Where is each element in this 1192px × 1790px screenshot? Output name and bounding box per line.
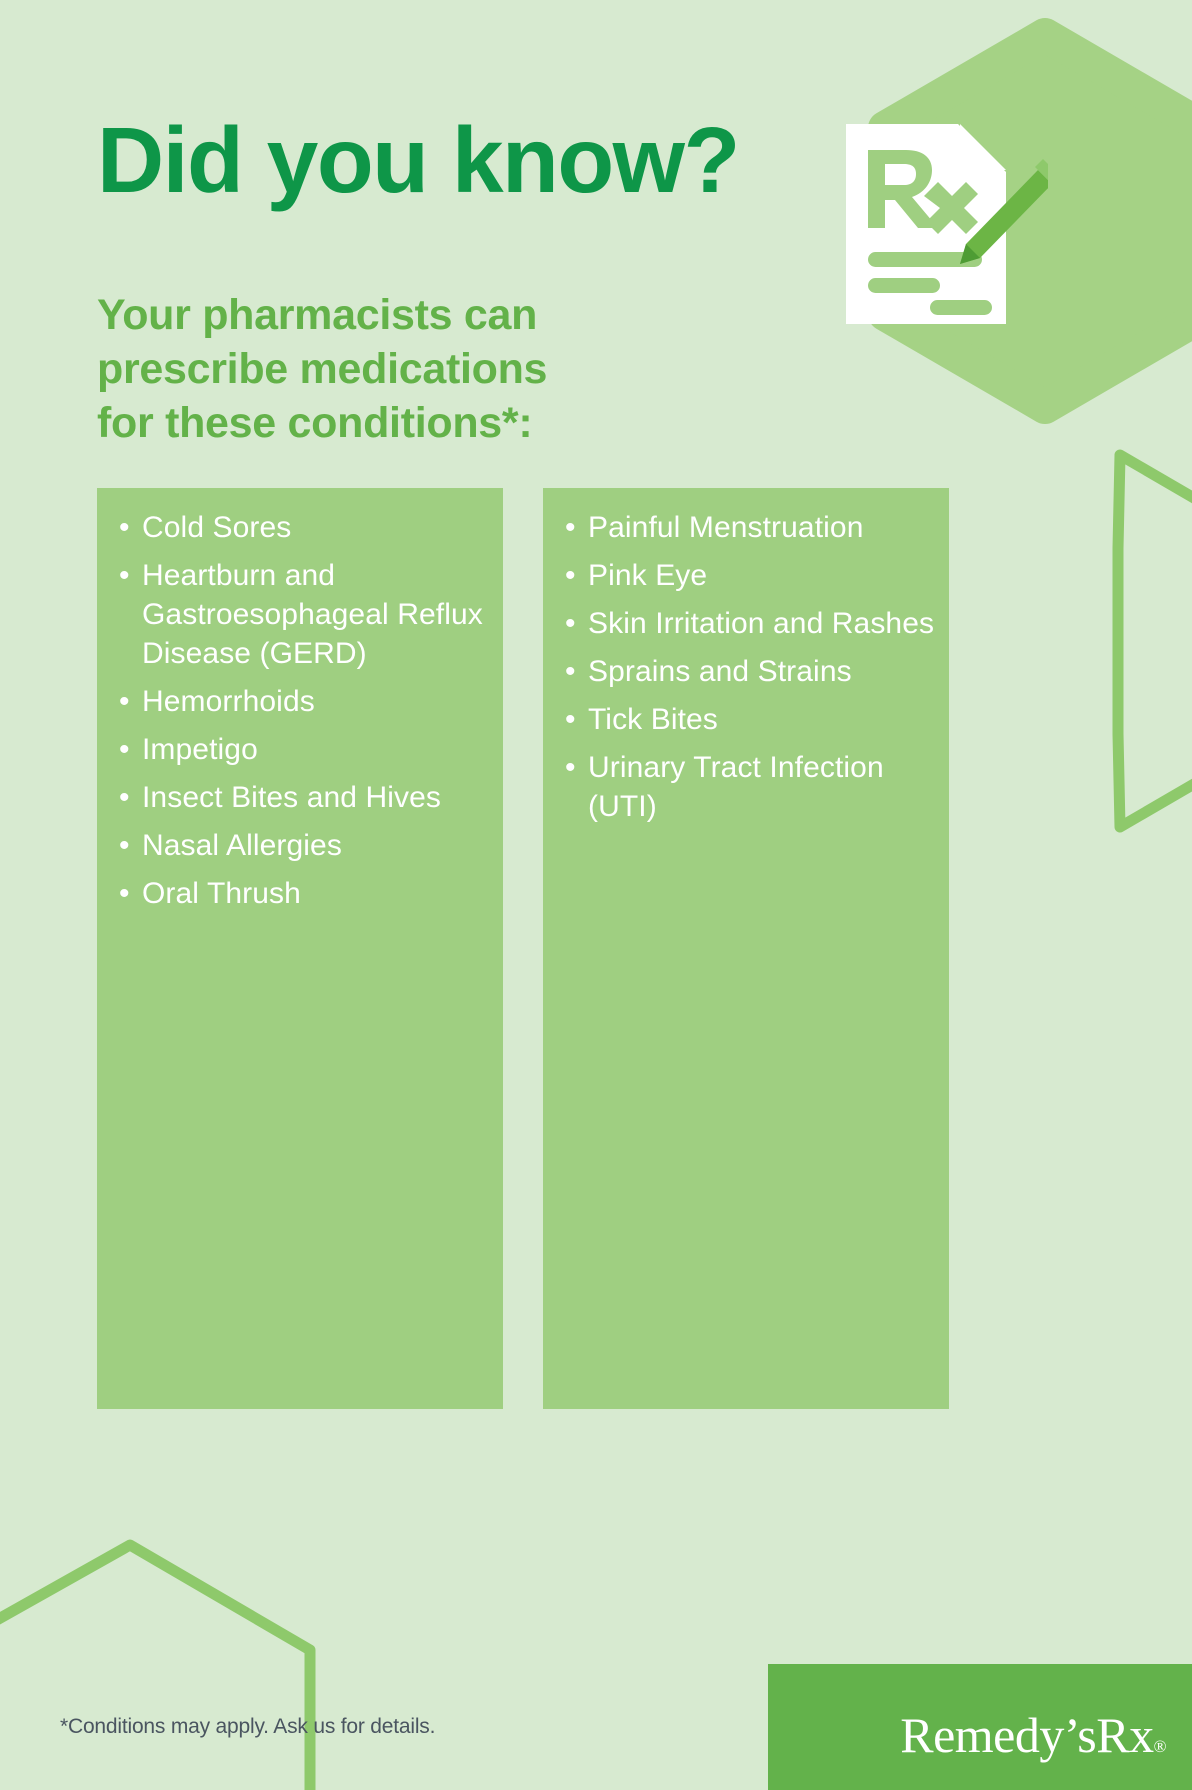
bullet-icon: • bbox=[565, 508, 576, 547]
list-item: •Insect Bites and Hives bbox=[115, 778, 497, 817]
bullet-icon: • bbox=[565, 556, 576, 595]
bullet-icon: • bbox=[119, 826, 130, 865]
brand-logo-text: Remedy’sRx® bbox=[768, 1706, 1166, 1764]
hexagon-outline-right bbox=[1118, 455, 1192, 827]
list-item-label: Hemorrhoids bbox=[142, 685, 315, 718]
document-line-2 bbox=[868, 278, 940, 293]
bullet-icon: • bbox=[119, 778, 130, 817]
poster-canvas: Did you know? Your pharmacists can presc… bbox=[0, 0, 1192, 1790]
list-item-label: Heartburn and Gastroesophageal Reflux Di… bbox=[142, 559, 483, 670]
list-item: •Painful Menstruation bbox=[561, 508, 943, 547]
brand-name: Remedy’sRx bbox=[900, 1707, 1153, 1763]
bullet-icon: • bbox=[119, 682, 130, 721]
bullet-icon: • bbox=[565, 604, 576, 643]
list-item-label: Painful Menstruation bbox=[588, 511, 864, 544]
subtitle-line-3: for these conditions*: bbox=[97, 396, 547, 450]
list-item-label: Pink Eye bbox=[588, 559, 707, 592]
list-item-label: Oral Thrush bbox=[142, 877, 301, 910]
conditions-panel-right: •Painful Menstruation •Pink Eye •Skin Ir… bbox=[543, 488, 949, 1409]
list-item-label: Cold Sores bbox=[142, 511, 291, 544]
list-item-label: Urinary Tract Infection (UTI) bbox=[588, 751, 884, 823]
prescription-document-icon bbox=[838, 118, 1048, 333]
list-item-label: Sprains and Strains bbox=[588, 655, 852, 688]
subtitle-line-1: Your pharmacists can bbox=[97, 288, 547, 342]
list-item-label: Nasal Allergies bbox=[142, 829, 342, 862]
list-item: •Impetigo bbox=[115, 730, 497, 769]
footnote-text: *Conditions may apply. Ask us for detail… bbox=[60, 1715, 435, 1739]
brand-logo: Remedy’sRx® bbox=[768, 1664, 1192, 1790]
list-item: •Heartburn and Gastroesophageal Reflux D… bbox=[115, 556, 497, 673]
list-item-label: Insect Bites and Hives bbox=[142, 781, 441, 814]
page-subtitle: Your pharmacists can prescribe medicatio… bbox=[97, 288, 547, 450]
subtitle-line-2: prescribe medications bbox=[97, 342, 547, 396]
list-item: •Hemorrhoids bbox=[115, 682, 497, 721]
list-item: •Urinary Tract Infection (UTI) bbox=[561, 748, 943, 826]
bullet-icon: • bbox=[119, 874, 130, 913]
list-item-label: Impetigo bbox=[142, 733, 258, 766]
bullet-icon: • bbox=[119, 556, 130, 595]
document-folded-corner bbox=[960, 124, 1006, 170]
conditions-panel-left: •Cold Sores •Heartburn and Gastroesophag… bbox=[97, 488, 503, 1409]
bullet-icon: • bbox=[565, 652, 576, 691]
list-item: •Pink Eye bbox=[561, 556, 943, 595]
bullet-icon: • bbox=[565, 748, 576, 787]
list-item: •Nasal Allergies bbox=[115, 826, 497, 865]
list-item: •Skin Irritation and Rashes bbox=[561, 604, 943, 643]
hexagon-outline-bottom-left bbox=[0, 1545, 310, 1790]
list-item-label: Skin Irritation and Rashes bbox=[588, 607, 934, 640]
bullet-icon: • bbox=[565, 700, 576, 739]
list-item-label: Tick Bites bbox=[588, 703, 718, 736]
list-item: •Tick Bites bbox=[561, 700, 943, 739]
list-item: •Oral Thrush bbox=[115, 874, 497, 913]
bullet-icon: • bbox=[119, 730, 130, 769]
conditions-list-right: •Painful Menstruation •Pink Eye •Skin Ir… bbox=[561, 508, 943, 835]
document-signature-line bbox=[930, 300, 992, 315]
list-item: •Sprains and Strains bbox=[561, 652, 943, 691]
page-title: Did you know? bbox=[97, 111, 739, 209]
conditions-list-left: •Cold Sores •Heartburn and Gastroesophag… bbox=[115, 508, 497, 922]
registered-trademark-icon: ® bbox=[1154, 1737, 1166, 1756]
bullet-icon: • bbox=[119, 508, 130, 547]
list-item: •Cold Sores bbox=[115, 508, 497, 547]
